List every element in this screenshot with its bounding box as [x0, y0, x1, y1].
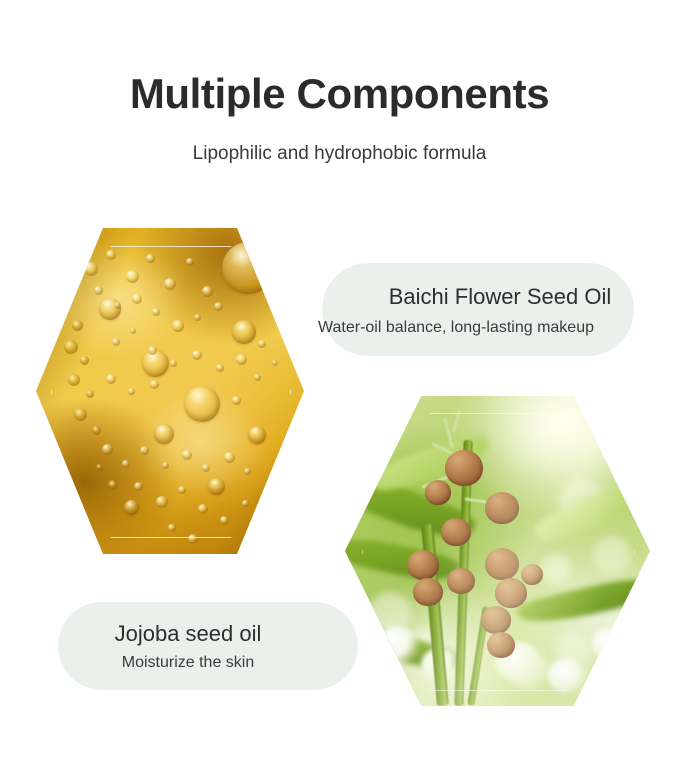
oil-bubble: [74, 408, 87, 421]
oil-droplet: [184, 386, 220, 422]
oil-bubble: [188, 534, 198, 544]
oil-bubble: [192, 350, 202, 360]
oil-bubble: [198, 504, 208, 514]
oil-bubble: [224, 452, 235, 463]
oil-bubble: [102, 444, 113, 455]
component-title-jojoba: Jojoba seed oil: [58, 622, 318, 646]
oil-bubble: [128, 388, 135, 395]
component-description-jojoba: Moisturize the skin: [58, 654, 318, 672]
oil-bubble: [84, 262, 98, 276]
oil-bubble: [108, 480, 118, 490]
oil-bubble: [232, 396, 241, 405]
oil-bubble: [164, 278, 176, 290]
oil-bubble: [126, 270, 139, 283]
oil-bubble: [152, 308, 160, 316]
oil-bubble: [64, 340, 78, 354]
oil-bubble: [114, 302, 121, 309]
oil-bubble: [132, 294, 142, 304]
oil-bubble: [182, 450, 192, 460]
oil-bubble: [258, 340, 266, 348]
oil-bubble: [106, 374, 116, 384]
oil-bubble: [68, 374, 80, 386]
oil-bubble: [202, 464, 210, 472]
oil-bubble: [272, 360, 278, 366]
oil-bubble: [202, 286, 213, 297]
oil-bubble: [140, 446, 149, 455]
oil-bubble: [134, 482, 143, 491]
oil-bubble: [94, 286, 103, 295]
oil-shadow: [36, 228, 304, 554]
oil-bubble: [170, 360, 177, 367]
oil-bubble: [146, 254, 155, 263]
oil-bubble: [236, 354, 247, 365]
component-title-baichi: Baichi Flower Seed Oil: [366, 285, 634, 309]
component-description-baichi: Water-oil balance, long-lasting makeup: [300, 319, 612, 337]
oil-droplet: [154, 424, 174, 444]
oil-bubble: [214, 302, 223, 311]
oil-bubble: [148, 346, 157, 355]
oil-bubble: [244, 468, 251, 475]
page-subtitle: Lipophilic and hydrophobic formula: [0, 143, 679, 166]
oil-bubble: [72, 320, 83, 331]
oil-bubble: [130, 328, 136, 334]
oil-bubble: [96, 464, 103, 471]
oil-bubble: [186, 258, 194, 266]
oil-bubble: [86, 390, 94, 398]
oil-bubble: [112, 338, 120, 346]
hexagon-image-plant: [345, 396, 650, 706]
oil-bubble: [122, 460, 130, 468]
oil-bubble: [150, 380, 159, 389]
product-feature-panel: Multiple Components Lipophilic and hydro…: [0, 0, 679, 766]
oil-bubble: [162, 462, 169, 469]
oil-bubble: [156, 496, 168, 508]
oil-droplet: [248, 426, 266, 444]
oil-bubble: [194, 314, 201, 321]
oil-droplet: [124, 500, 139, 515]
component-card-baichi-flower-seed-oil: Baichi Flower Seed Oil Water-oil balance…: [322, 263, 634, 356]
oil-droplet: [208, 478, 225, 495]
hexagon-image-oil: [36, 228, 304, 554]
oil-bubble: [242, 500, 249, 507]
plant-sunlight-overlay: [345, 396, 650, 706]
oil-bubble: [106, 250, 116, 260]
oil-droplet: [222, 242, 274, 294]
oil-bubble: [92, 426, 101, 435]
oil-droplet: [142, 350, 169, 377]
oil-bubble: [178, 486, 186, 494]
oil-bubble: [168, 524, 176, 532]
oil-bubble: [254, 374, 261, 381]
oil-bubble: [80, 356, 89, 365]
page-title: Multiple Components: [0, 72, 679, 116]
oil-bubble: [172, 320, 184, 332]
component-card-jojoba-seed-oil: Jojoba seed oil Moisturize the skin: [58, 602, 358, 690]
oil-bubble: [216, 364, 224, 372]
oil-bubble: [220, 516, 229, 525]
oil-droplet: [232, 320, 256, 344]
